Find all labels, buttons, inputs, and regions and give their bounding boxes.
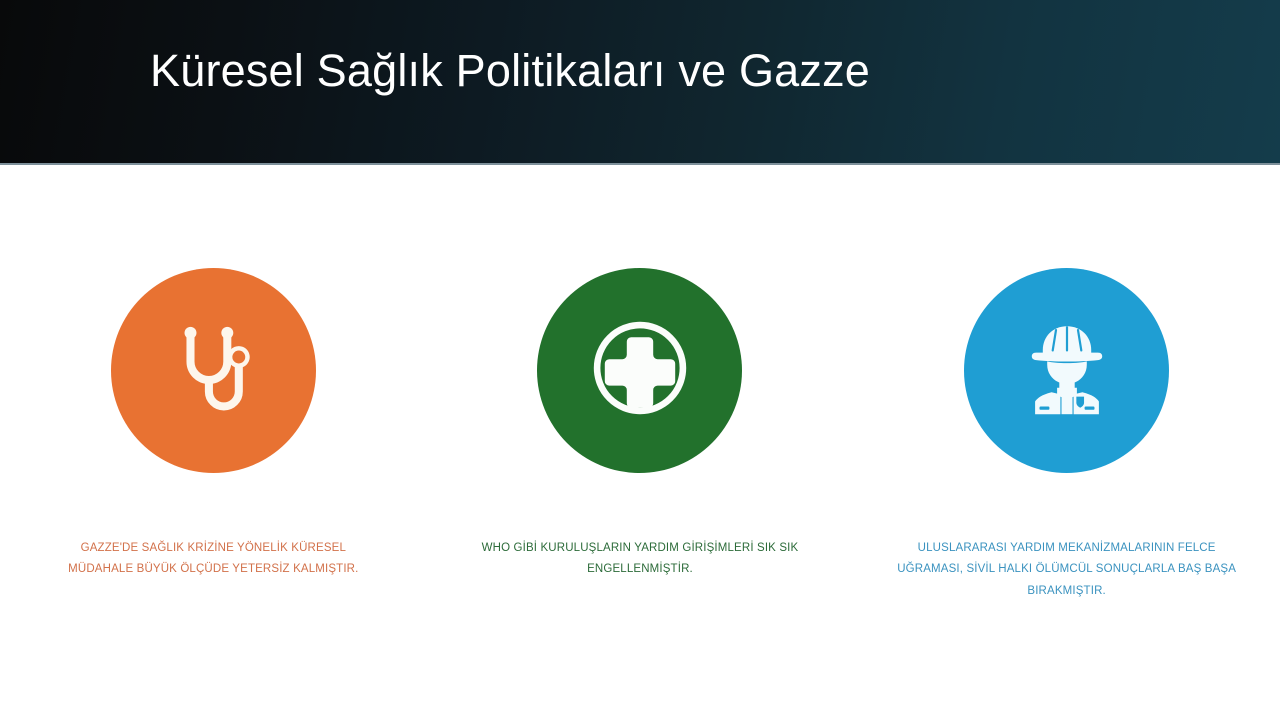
stethoscope-icon-circle xyxy=(111,268,316,473)
slide-content: GAZZE'DE SAĞLIK KRİZİNE YÖNELİK KÜRESEL … xyxy=(0,165,1280,720)
column-aid-blocked: WHO GİBİ KURULUŞLARIN YARDIM GİRİŞİMLERİ… xyxy=(427,165,854,602)
icon-columns: GAZZE'DE SAĞLIK KRİZİNE YÖNELİK KÜRESEL … xyxy=(0,165,1280,602)
caption-aid-mechanisms: ULUSLARARASI YARDIM MEKANİZMALARININ FEL… xyxy=(892,538,1242,602)
page-title: Küresel Sağlık Politikaları ve Gazze xyxy=(150,44,870,98)
medical-cross-icon xyxy=(585,313,695,428)
aid-worker-icon-circle xyxy=(964,268,1169,473)
header-band: Küresel Sağlık Politikaları ve Gazze xyxy=(0,0,1280,165)
column-health-crisis: GAZZE'DE SAĞLIK KRİZİNE YÖNELİK KÜRESEL … xyxy=(0,165,427,602)
aid-worker-icon xyxy=(1012,313,1122,428)
caption-health-crisis: GAZZE'DE SAĞLIK KRİZİNE YÖNELİK KÜRESEL … xyxy=(48,538,378,581)
stethoscope-icon xyxy=(156,311,271,431)
column-aid-mechanisms: ULUSLARARASI YARDIM MEKANİZMALARININ FEL… xyxy=(853,165,1280,602)
caption-aid-blocked: WHO GİBİ KURULUŞLARIN YARDIM GİRİŞİMLERİ… xyxy=(475,538,805,581)
medical-cross-icon-circle xyxy=(537,268,742,473)
